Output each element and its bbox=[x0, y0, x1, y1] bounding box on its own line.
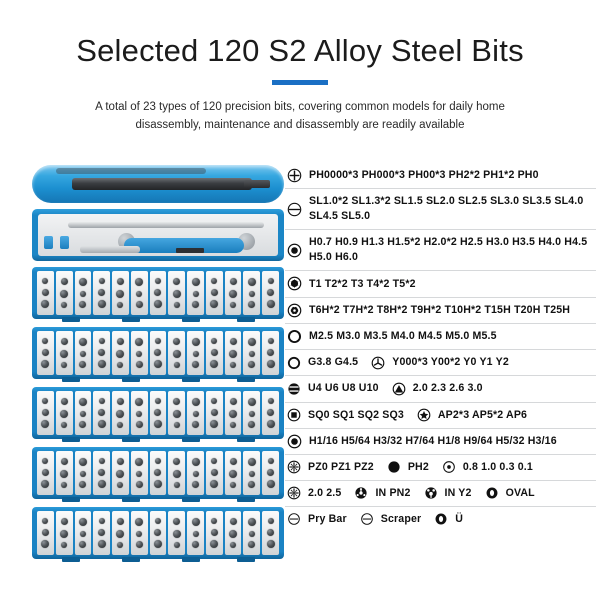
bit bbox=[98, 300, 106, 308]
bit-holder bbox=[243, 451, 260, 495]
bit bbox=[248, 361, 255, 368]
bit-holder bbox=[206, 451, 223, 495]
bit bbox=[116, 470, 124, 478]
bit-holder bbox=[37, 391, 54, 435]
bit-holder bbox=[262, 331, 279, 375]
bit bbox=[42, 518, 48, 524]
bit bbox=[117, 278, 124, 285]
spec-segment: H0.7 H0.9 H1.3 H1.5*2 H2.0*2 H2.5 H3.0 H… bbox=[287, 235, 596, 265]
bit bbox=[154, 540, 162, 548]
spec-segment: OVAL bbox=[485, 486, 535, 501]
bit bbox=[193, 531, 199, 537]
u-shape-icon bbox=[287, 381, 301, 396]
spec-segment-label: IN Y2 bbox=[445, 486, 472, 501]
bit bbox=[155, 338, 161, 344]
bit-holder bbox=[168, 511, 185, 555]
spec-segment: Y000*3 Y00*2 Y0 Y1 Y2 bbox=[371, 355, 509, 370]
bit bbox=[117, 338, 124, 345]
bit bbox=[79, 481, 86, 488]
spec-segment: 0.8 1.0 0.3 0.1 bbox=[442, 460, 533, 475]
spec-row-content: M2.5 M3.0 M3.5 M4.0 M4.5 M5.0 M5.5 bbox=[287, 329, 596, 344]
bit bbox=[211, 458, 217, 464]
bit bbox=[211, 469, 218, 476]
spec-segment-label: 2.0 2.3 2.6 3.0 bbox=[413, 381, 483, 396]
spec-segment-label: Scraper bbox=[381, 512, 422, 527]
bit-tray bbox=[32, 507, 284, 559]
bit-tray bbox=[32, 327, 284, 379]
spec-segment-label: 0.8 1.0 0.3 0.1 bbox=[463, 460, 533, 475]
bit bbox=[99, 278, 105, 284]
spec-segment: T1 T2*2 T3 T4*2 T5*2 bbox=[287, 276, 416, 291]
bit-holder bbox=[37, 451, 54, 495]
bit bbox=[136, 421, 143, 428]
bit-holder bbox=[225, 331, 242, 375]
spec-segment: Ü bbox=[434, 512, 463, 527]
spec-row-content: Pry BarScraperÜ bbox=[287, 512, 596, 527]
bit bbox=[42, 278, 48, 284]
bit bbox=[61, 542, 67, 548]
bit bbox=[154, 300, 162, 308]
spec-segment: M2.5 M3.0 M3.5 M4.0 M4.5 M5.0 M5.5 bbox=[287, 329, 497, 344]
bit-tray bbox=[32, 267, 284, 319]
spec-row-content: SL1.0*2 SL1.3*2 SL1.5 SL2.0 SL2.5 SL3.0 … bbox=[287, 194, 596, 224]
bit bbox=[229, 410, 237, 418]
bit-holder bbox=[243, 271, 260, 315]
spec-segment-label: PH0000*3 PH000*3 PH00*3 PH2*2 PH1*2 PH0 bbox=[309, 168, 539, 183]
bit bbox=[192, 361, 199, 368]
spec-segment: 2.0 2.5 bbox=[287, 486, 341, 501]
bit bbox=[248, 518, 256, 526]
spec-segment-label: G3.8 G4.5 bbox=[308, 355, 358, 370]
bit bbox=[80, 291, 86, 297]
bit-holder bbox=[225, 271, 242, 315]
hex-socket-icon bbox=[287, 434, 302, 449]
spec-row-nut-driver: M2.5 M3.0 M3.5 M4.0 M4.5 M5.0 M5.5 bbox=[285, 324, 596, 350]
bit bbox=[135, 458, 143, 466]
bit bbox=[211, 278, 217, 284]
product-spec-page: Selected 120 S2 Alloy Steel Bits A total… bbox=[0, 0, 600, 600]
bit bbox=[136, 291, 142, 297]
bit bbox=[193, 291, 199, 297]
spec-segment-label: OVAL bbox=[506, 486, 535, 501]
spec-segment: PH2 bbox=[387, 460, 429, 475]
spec-row-content: SQ0 SQ1 SQ2 SQ3AP2*3 AP5*2 AP6 bbox=[287, 408, 596, 423]
screwdriver-handle bbox=[32, 165, 284, 203]
bit bbox=[173, 470, 181, 478]
spec-segment: H1/16 H5/64 H3/32 H7/64 H1/8 H9/64 H5/32… bbox=[287, 434, 557, 449]
bit-holder bbox=[93, 511, 110, 555]
spec-segment-label: AP2*3 AP5*2 AP6 bbox=[438, 408, 527, 423]
tray-clip bbox=[182, 557, 200, 562]
bit bbox=[135, 518, 143, 526]
bit-holder bbox=[93, 331, 110, 375]
bit bbox=[79, 361, 86, 368]
page-header: Selected 120 S2 Alloy Steel Bits A total… bbox=[0, 0, 600, 135]
bit-holder-strip bbox=[37, 451, 279, 495]
pry-bar-icon bbox=[287, 512, 301, 527]
bit bbox=[174, 362, 180, 368]
bit bbox=[154, 289, 161, 296]
bit bbox=[79, 518, 87, 526]
bit bbox=[80, 531, 86, 537]
bit bbox=[229, 290, 237, 298]
bit bbox=[136, 471, 142, 477]
bit bbox=[155, 458, 161, 464]
bit-holder bbox=[150, 451, 167, 495]
bit bbox=[174, 542, 180, 548]
spec-row-torx: T1 T2*2 T3 T4*2 T5*2 bbox=[285, 271, 596, 297]
bit-holder bbox=[187, 511, 204, 555]
bit bbox=[117, 362, 123, 368]
hex-socket-icon bbox=[287, 243, 302, 258]
bit bbox=[42, 398, 48, 404]
bit bbox=[192, 278, 200, 286]
bit bbox=[42, 469, 49, 476]
tray-clip bbox=[182, 497, 200, 502]
bit bbox=[79, 541, 86, 548]
tray-clip bbox=[237, 317, 255, 322]
bit bbox=[98, 360, 106, 368]
torx-star-icon bbox=[287, 276, 302, 291]
bit bbox=[248, 541, 255, 548]
bit-holder bbox=[187, 391, 204, 435]
bit bbox=[98, 469, 105, 476]
bit-holder-strip bbox=[37, 391, 279, 435]
bit bbox=[174, 422, 180, 428]
bit bbox=[80, 351, 86, 357]
bit bbox=[267, 469, 274, 476]
spec-segment-label: T6H*2 T7H*2 T8H*2 T9H*2 T10H*2 T15H T20H… bbox=[309, 303, 570, 318]
oval-icon bbox=[485, 486, 499, 501]
spec-row-content: 2.0 2.5IN PN2IN Y2OVAL bbox=[287, 486, 596, 501]
tray-clip bbox=[62, 437, 80, 442]
bit bbox=[193, 351, 199, 357]
bit bbox=[211, 349, 218, 356]
bit bbox=[230, 422, 236, 428]
spec-row-content: PZ0 PZ1 PZ2PH20.8 1.0 0.3 0.1 bbox=[287, 460, 596, 475]
bit bbox=[210, 480, 218, 488]
bit bbox=[135, 278, 143, 286]
bit bbox=[80, 411, 86, 417]
bit-holder bbox=[225, 511, 242, 555]
bit bbox=[192, 398, 200, 406]
bit bbox=[230, 362, 236, 368]
bit bbox=[79, 338, 87, 346]
spec-row-hex-imperial: H1/16 H5/64 H3/32 H7/64 H1/8 H9/64 H5/32… bbox=[285, 429, 596, 455]
bit bbox=[79, 278, 87, 286]
circle-outline-icon bbox=[287, 329, 302, 344]
bit bbox=[117, 398, 124, 405]
bit-holder bbox=[56, 271, 73, 315]
bit-holder bbox=[112, 511, 129, 555]
spec-row-hex-metric: H0.7 H0.9 H1.3 H1.5*2 H2.0*2 H2.5 H3.0 H… bbox=[285, 230, 596, 271]
bit bbox=[61, 278, 68, 285]
bit bbox=[248, 398, 256, 406]
bit bbox=[173, 518, 180, 525]
spec-segment: G3.8 G4.5 bbox=[287, 355, 358, 370]
spec-segment: U4 U6 U8 U10 bbox=[287, 381, 379, 396]
bit bbox=[99, 458, 105, 464]
bit bbox=[173, 458, 180, 465]
spec-row-inner-spanner: 2.0 2.5IN PN2IN Y2OVAL bbox=[285, 481, 596, 507]
tray-clip bbox=[122, 497, 140, 502]
bit bbox=[230, 278, 237, 285]
tray-clip bbox=[122, 557, 140, 562]
dot-circle-icon bbox=[442, 460, 456, 475]
tray-clip bbox=[182, 317, 200, 322]
bit bbox=[248, 338, 256, 346]
bit bbox=[80, 471, 86, 477]
bit bbox=[61, 362, 67, 368]
bit bbox=[135, 398, 143, 406]
bit bbox=[229, 530, 237, 538]
bit-holder bbox=[56, 331, 73, 375]
bit-holder bbox=[75, 391, 92, 435]
bit-holder bbox=[131, 451, 148, 495]
bit bbox=[210, 300, 218, 308]
bit bbox=[210, 360, 218, 368]
bit-holder bbox=[75, 271, 92, 315]
bit-holder bbox=[243, 391, 260, 435]
spec-segment-label: H0.7 H0.9 H1.3 H1.5*2 H2.0*2 H2.5 H3.0 H… bbox=[309, 235, 596, 265]
bit bbox=[210, 420, 218, 428]
oval-icon bbox=[434, 512, 448, 527]
tray-clip bbox=[237, 557, 255, 562]
handle-highlight bbox=[56, 168, 206, 174]
spec-row-phillips: PH0000*3 PH000*3 PH00*3 PH2*2 PH1*2 PH0 bbox=[285, 163, 596, 189]
bit bbox=[42, 289, 49, 296]
bit bbox=[192, 338, 200, 346]
bit bbox=[230, 482, 236, 488]
bit bbox=[173, 338, 180, 345]
accessory-tray bbox=[32, 209, 284, 261]
handle-tip bbox=[244, 180, 270, 188]
bit-holder bbox=[112, 391, 129, 435]
spec-segment: SQ0 SQ1 SQ2 SQ3 bbox=[287, 408, 404, 423]
spec-segment: PZ0 PZ1 PZ2 bbox=[287, 460, 374, 475]
bit-holder bbox=[168, 451, 185, 495]
bit bbox=[60, 530, 68, 538]
bit bbox=[60, 290, 68, 298]
specification-list: PH0000*3 PH000*3 PH00*3 PH2*2 PH1*2 PH0S… bbox=[285, 163, 596, 532]
bit bbox=[211, 409, 218, 416]
bit-holder bbox=[93, 451, 110, 495]
bit bbox=[79, 398, 87, 406]
bit bbox=[192, 458, 200, 466]
bit-holder bbox=[37, 331, 54, 375]
spec-segment: 2.0 2.3 2.6 3.0 bbox=[392, 381, 483, 396]
tray-clip bbox=[122, 317, 140, 322]
bit bbox=[230, 338, 237, 345]
bit bbox=[61, 458, 68, 465]
bit bbox=[173, 410, 181, 418]
product-photo bbox=[0, 163, 285, 583]
bit bbox=[42, 409, 49, 416]
bit bbox=[61, 302, 67, 308]
bit bbox=[136, 361, 143, 368]
bit bbox=[173, 350, 181, 358]
spec-segment-label: 2.0 2.5 bbox=[308, 486, 341, 501]
bit bbox=[192, 481, 199, 488]
bit-tray bbox=[32, 387, 284, 439]
spec-segment-label: PH2 bbox=[408, 460, 429, 475]
bit bbox=[98, 480, 106, 488]
bit-holder bbox=[187, 451, 204, 495]
bit bbox=[248, 458, 256, 466]
bit bbox=[230, 458, 237, 465]
bit bbox=[42, 349, 49, 356]
bit-holder bbox=[168, 391, 185, 435]
bit-holder bbox=[206, 391, 223, 435]
bit bbox=[268, 278, 274, 284]
bit bbox=[116, 290, 124, 298]
pry-blade bbox=[80, 246, 140, 253]
bit-holder bbox=[168, 331, 185, 375]
bit bbox=[61, 518, 68, 525]
bit bbox=[173, 530, 181, 538]
bit bbox=[60, 350, 68, 358]
spec-segment-label: Ü bbox=[455, 512, 463, 527]
spanner-pn-icon bbox=[354, 486, 368, 501]
bit-holder bbox=[75, 511, 92, 555]
bit bbox=[249, 351, 255, 357]
bit bbox=[248, 301, 255, 308]
bit-holder bbox=[56, 451, 73, 495]
bit bbox=[155, 278, 161, 284]
bit bbox=[267, 420, 275, 428]
tray-clip bbox=[182, 377, 200, 382]
bit bbox=[98, 420, 106, 428]
bit bbox=[154, 469, 161, 476]
tray-marking bbox=[176, 248, 204, 253]
bit bbox=[41, 540, 49, 548]
bit bbox=[136, 351, 142, 357]
spec-segment-label: H1/16 H5/64 H3/32 H7/64 H1/8 H9/64 H5/32… bbox=[309, 434, 557, 449]
bit-holder bbox=[206, 271, 223, 315]
bit bbox=[42, 529, 49, 536]
bit bbox=[136, 411, 142, 417]
bit bbox=[249, 531, 255, 537]
bit-holder bbox=[37, 511, 54, 555]
pozidriv-icon bbox=[287, 460, 301, 475]
handle-shaft bbox=[72, 178, 252, 190]
bit bbox=[211, 518, 217, 524]
bit bbox=[41, 420, 49, 428]
bit bbox=[79, 421, 86, 428]
bit-holder bbox=[112, 331, 129, 375]
bit-holder bbox=[131, 391, 148, 435]
bit bbox=[267, 409, 274, 416]
bit bbox=[174, 482, 180, 488]
tray-clip bbox=[62, 377, 80, 382]
spec-row-content: T6H*2 T7H*2 T8H*2 T9H*2 T10H*2 T15H T20H… bbox=[287, 303, 596, 318]
spec-row-pozi-and-ph2: PZ0 PZ1 PZ2PH20.8 1.0 0.3 0.1 bbox=[285, 455, 596, 481]
bit bbox=[117, 542, 123, 548]
page-title: Selected 120 S2 Alloy Steel Bits bbox=[0, 34, 600, 68]
specification-list-column: PH0000*3 PH000*3 PH00*3 PH2*2 PH1*2 PH0S… bbox=[285, 163, 600, 583]
spec-row-content: PH0000*3 PH000*3 PH00*3 PH2*2 PH1*2 PH0 bbox=[287, 168, 596, 183]
bit bbox=[136, 301, 143, 308]
bit-holder bbox=[93, 271, 110, 315]
bit bbox=[267, 349, 274, 356]
bit bbox=[99, 518, 105, 524]
bit bbox=[42, 458, 48, 464]
bit-holder bbox=[243, 331, 260, 375]
bit bbox=[61, 482, 67, 488]
bit bbox=[99, 338, 105, 344]
bit-holder bbox=[112, 271, 129, 315]
bit-holder bbox=[131, 271, 148, 315]
bit bbox=[79, 458, 87, 466]
tray-clip bbox=[62, 317, 80, 322]
bit bbox=[267, 529, 274, 536]
extension-rod bbox=[68, 222, 264, 228]
bit bbox=[155, 518, 161, 524]
bit bbox=[249, 291, 255, 297]
bit bbox=[173, 398, 180, 405]
bit bbox=[267, 289, 274, 296]
spec-segment-label: T1 T2*2 T3 T4*2 T5*2 bbox=[309, 277, 416, 292]
spec-segment: T6H*2 T7H*2 T8H*2 T9H*2 T10H*2 T15H T20H… bbox=[287, 303, 570, 318]
bit-holder bbox=[262, 271, 279, 315]
bit bbox=[136, 531, 142, 537]
bit bbox=[61, 398, 68, 405]
bit bbox=[98, 289, 105, 296]
accessory-chip bbox=[60, 236, 69, 249]
tray-clip bbox=[122, 377, 140, 382]
bit bbox=[117, 302, 123, 308]
bit bbox=[192, 541, 199, 548]
bit-holder bbox=[75, 451, 92, 495]
bit bbox=[268, 518, 274, 524]
spec-row-accessories: Pry BarScraperÜ bbox=[285, 507, 596, 532]
bit bbox=[229, 350, 237, 358]
bit bbox=[173, 290, 181, 298]
torx-security-icon bbox=[287, 303, 302, 318]
bit bbox=[248, 278, 256, 286]
bit bbox=[268, 338, 274, 344]
bit-holder bbox=[131, 511, 148, 555]
spec-row-u-and-triangle: U4 U6 U8 U102.0 2.3 2.6 3.0 bbox=[285, 376, 596, 402]
bit bbox=[154, 360, 162, 368]
bit-holder bbox=[75, 331, 92, 375]
spec-segment: PH0000*3 PH000*3 PH00*3 PH2*2 PH1*2 PH0 bbox=[287, 168, 539, 183]
bit-holder bbox=[150, 331, 167, 375]
bit-holder bbox=[131, 331, 148, 375]
spec-row-content: G3.8 G4.5Y000*3 Y00*2 Y0 Y1 Y2 bbox=[287, 355, 596, 370]
bit bbox=[230, 542, 236, 548]
bit bbox=[211, 338, 217, 344]
spec-row-torx-security: T6H*2 T7H*2 T8H*2 T9H*2 T10H*2 T15H T20H… bbox=[285, 298, 596, 324]
spec-segment: AP2*3 AP5*2 AP6 bbox=[417, 408, 527, 423]
bit bbox=[174, 302, 180, 308]
bit bbox=[210, 540, 218, 548]
bit bbox=[154, 529, 161, 536]
bit bbox=[268, 398, 274, 404]
bit bbox=[211, 529, 218, 536]
bit bbox=[117, 458, 124, 465]
spec-segment-label: SL1.0*2 SL1.3*2 SL1.5 SL2.0 SL2.5 SL3.0 … bbox=[309, 194, 596, 224]
bit bbox=[154, 480, 162, 488]
spec-row-slotted: SL1.0*2 SL1.3*2 SL1.5 SL2.0 SL2.5 SL3.0 … bbox=[285, 189, 596, 230]
bit bbox=[155, 398, 161, 404]
spec-row-content: U4 U6 U8 U102.0 2.3 2.6 3.0 bbox=[287, 381, 596, 396]
bit bbox=[117, 518, 124, 525]
tray-clip bbox=[237, 437, 255, 442]
tray-clip bbox=[237, 377, 255, 382]
bit bbox=[192, 301, 199, 308]
bit bbox=[267, 360, 275, 368]
